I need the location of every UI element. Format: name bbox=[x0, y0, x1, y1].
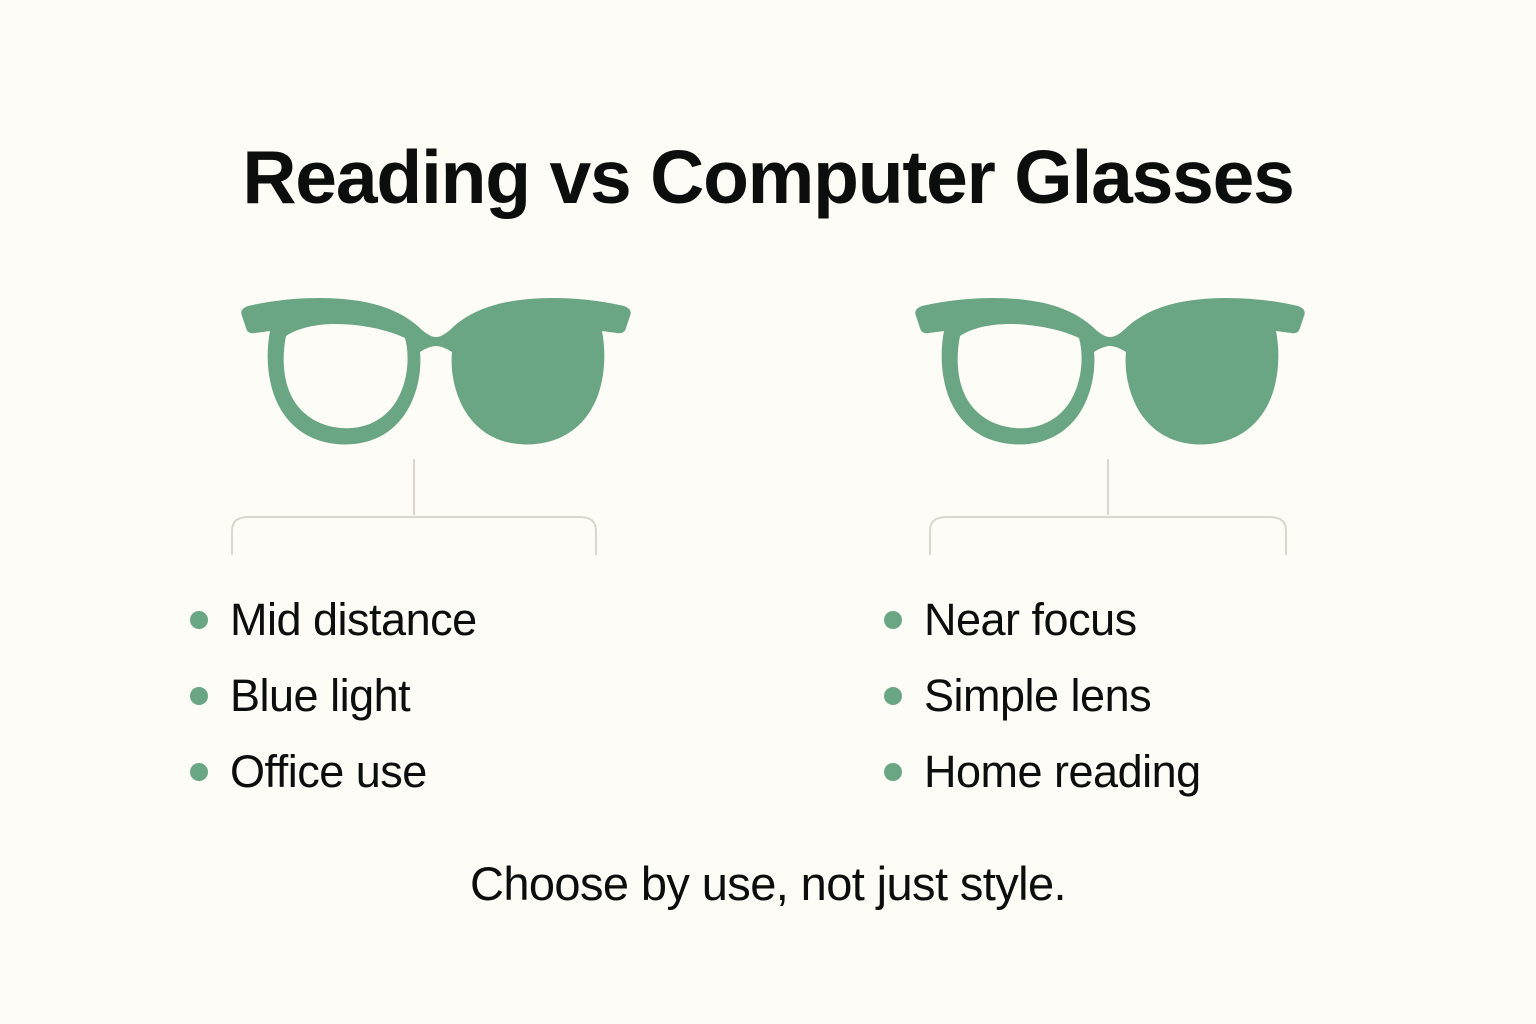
bullet-dot-icon bbox=[884, 687, 902, 705]
page-title: Reading vs Computer Glasses bbox=[0, 140, 1536, 215]
list-item: Home reading bbox=[884, 734, 1404, 810]
bullet-dot-icon bbox=[884, 763, 902, 781]
glasses-illustration-left bbox=[236, 290, 636, 455]
list-item-label: Blue light bbox=[230, 670, 410, 722]
list-item: Mid distance bbox=[190, 582, 710, 658]
footer-caption: Choose by use, not just style. bbox=[0, 856, 1536, 911]
bullet-dot-icon bbox=[190, 687, 208, 705]
list-item-label: Office use bbox=[230, 746, 427, 798]
eyeglasses-icon bbox=[236, 290, 636, 455]
bracket-icon bbox=[214, 455, 614, 560]
infographic-canvas: Reading vs Computer Glasses Mid distance… bbox=[0, 0, 1536, 1024]
list-item-label: Near focus bbox=[924, 594, 1137, 646]
feature-list-right: Near focus Simple lens Home reading bbox=[884, 582, 1404, 810]
eyeglasses-icon bbox=[910, 290, 1310, 455]
column-computer-glasses: Mid distance Blue light Office use bbox=[176, 290, 696, 560]
feature-list-left: Mid distance Blue light Office use bbox=[190, 582, 710, 810]
list-item: Blue light bbox=[190, 658, 710, 734]
bullet-dot-icon bbox=[884, 611, 902, 629]
bullet-dot-icon bbox=[190, 763, 208, 781]
list-item-label: Simple lens bbox=[924, 670, 1151, 722]
list-item: Simple lens bbox=[884, 658, 1404, 734]
connector-bracket-left bbox=[214, 455, 614, 560]
list-item: Office use bbox=[190, 734, 710, 810]
bracket-icon bbox=[908, 455, 1308, 560]
column-reading-glasses: Near focus Simple lens Home reading bbox=[862, 290, 1382, 560]
glasses-illustration-right bbox=[910, 290, 1310, 455]
connector-bracket-right bbox=[908, 455, 1308, 560]
bullet-dot-icon bbox=[190, 611, 208, 629]
list-item-label: Mid distance bbox=[230, 594, 477, 646]
list-item: Near focus bbox=[884, 582, 1404, 658]
list-item-label: Home reading bbox=[924, 746, 1201, 798]
